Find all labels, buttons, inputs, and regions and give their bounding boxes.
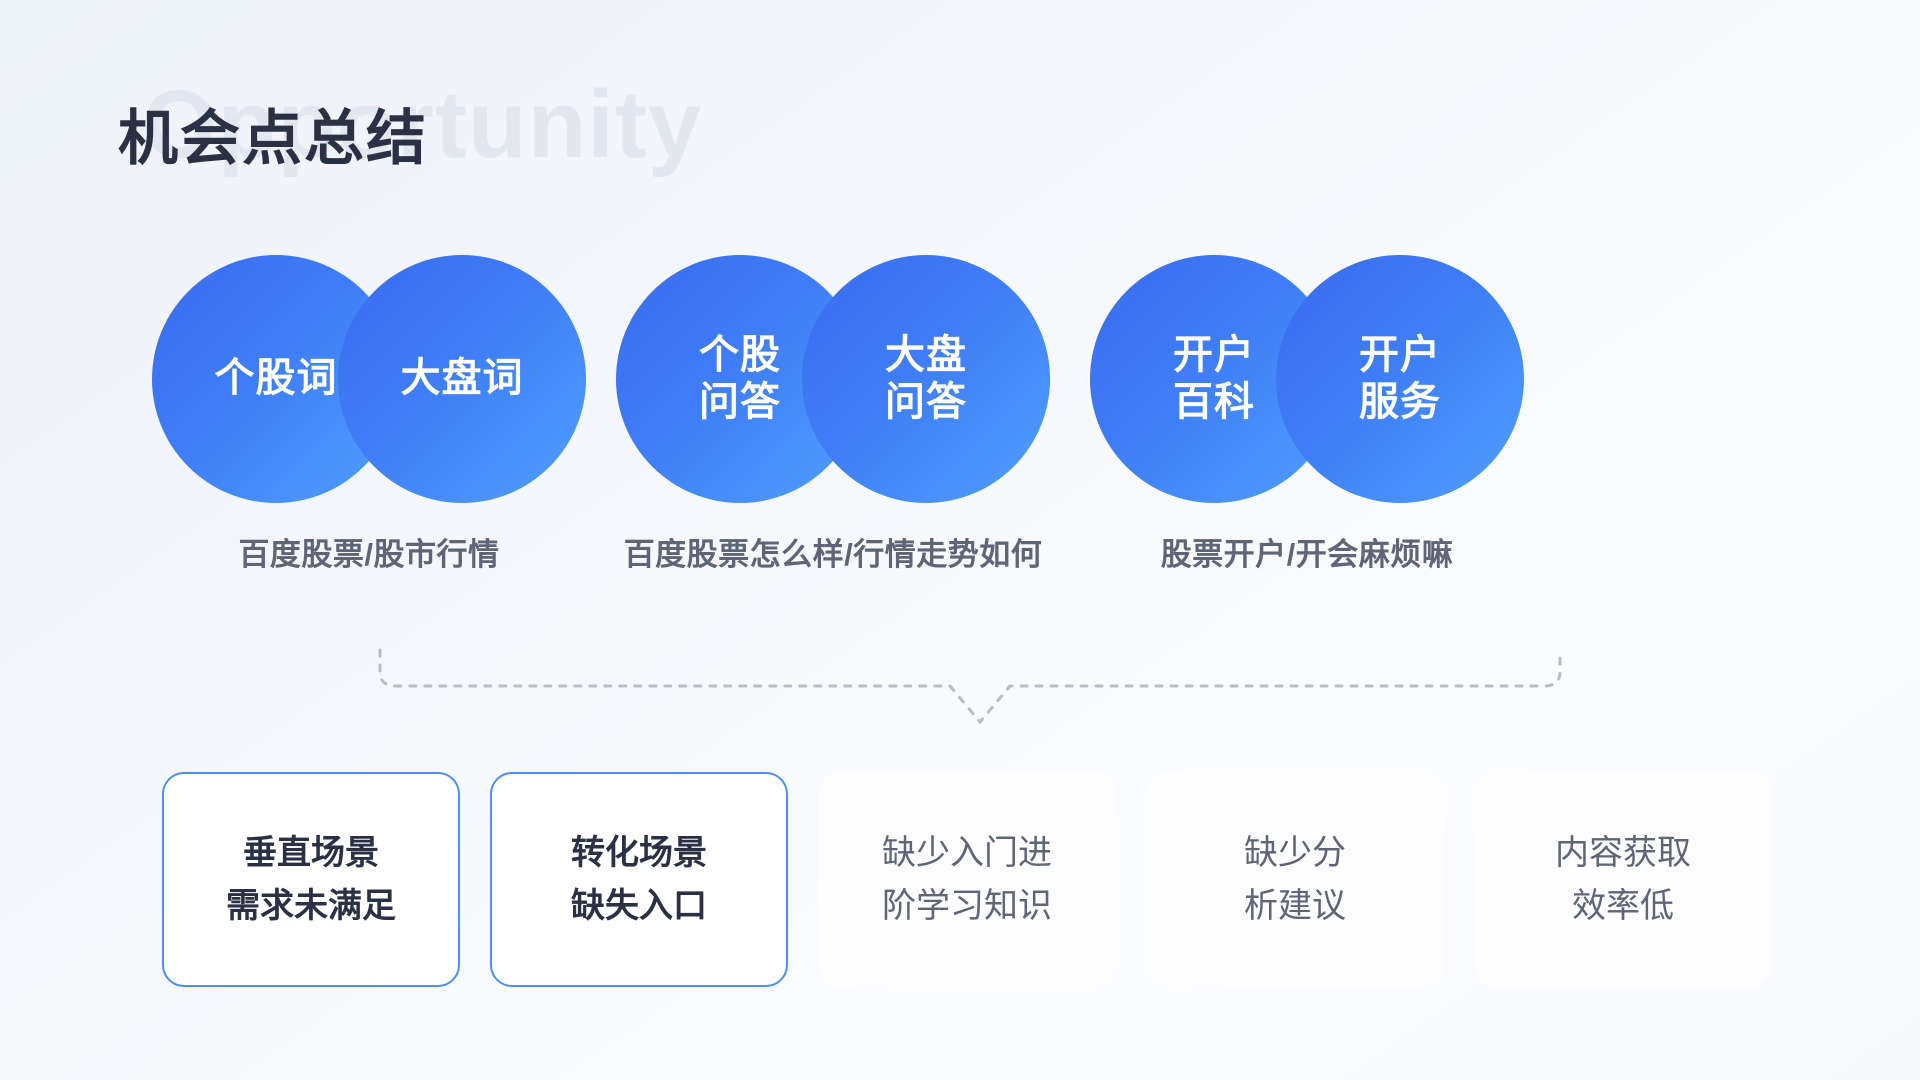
keyword-group-caption: 百度股票/股市行情 <box>152 529 586 574</box>
keyword-circle-label: 大盘词 <box>401 355 524 402</box>
opportunity-card[interactable]: 缺少入门进 阶学习知识 <box>818 772 1116 987</box>
circle-pair: 个股 问答 大盘 问答 <box>616 255 1050 503</box>
page-title-block: Opportunity 机会点总结 <box>118 78 938 198</box>
keyword-group-caption: 百度股票怎么样/行情走势如何 <box>616 529 1050 574</box>
keyword-circle[interactable]: 大盘 问答 <box>802 255 1050 503</box>
keyword-circle-label: 大盘 问答 <box>885 332 967 426</box>
dashed-bracket-connector <box>370 640 1570 740</box>
keyword-group: 开户 百科 开户 服务 股票开户/开会麻烦嘛 <box>1090 255 1524 574</box>
keyword-group: 个股词 大盘词 百度股票/股市行情 <box>152 255 586 574</box>
keyword-circle-label: 个股词 <box>215 355 338 402</box>
keyword-circle-label: 开户 服务 <box>1359 332 1441 426</box>
opportunity-card-label: 转化场景 缺失入口 <box>571 827 707 932</box>
opportunity-cards: 垂直场景 需求未满足 转化场景 缺失入口 缺少入门进 阶学习知识 缺少分 析建议… <box>0 772 1920 987</box>
keyword-circle-label: 开户 百科 <box>1173 332 1255 426</box>
keyword-groups: 个股词 大盘词 百度股票/股市行情 个股 问答 大盘 问答 百度股票怎么样/行情… <box>0 255 1920 595</box>
keyword-circle[interactable]: 开户 服务 <box>1276 255 1524 503</box>
dashed-bracket-icon <box>370 640 1570 740</box>
keyword-circle-label: 个股 问答 <box>699 332 781 426</box>
opportunity-card-label: 垂直场景 需求未满足 <box>226 827 396 932</box>
opportunity-card-label: 缺少分 析建议 <box>1244 827 1346 932</box>
circle-pair: 开户 百科 开户 服务 <box>1090 255 1524 503</box>
opportunity-card-label: 内容获取 效率低 <box>1555 827 1691 932</box>
page-title: 机会点总结 <box>118 106 428 172</box>
keyword-group: 个股 问答 大盘 问答 百度股票怎么样/行情走势如何 <box>616 255 1050 574</box>
opportunity-card[interactable]: 垂直场景 需求未满足 <box>162 772 460 987</box>
opportunity-card[interactable]: 缺少分 析建议 <box>1146 772 1444 987</box>
keyword-circle[interactable]: 大盘词 <box>338 255 586 503</box>
keyword-group-caption: 股票开户/开会麻烦嘛 <box>1090 529 1524 574</box>
opportunity-card-label: 缺少入门进 阶学习知识 <box>882 827 1052 932</box>
circle-pair: 个股词 大盘词 <box>152 255 586 503</box>
opportunity-card[interactable]: 转化场景 缺失入口 <box>490 772 788 987</box>
opportunity-card[interactable]: 内容获取 效率低 <box>1474 772 1772 987</box>
